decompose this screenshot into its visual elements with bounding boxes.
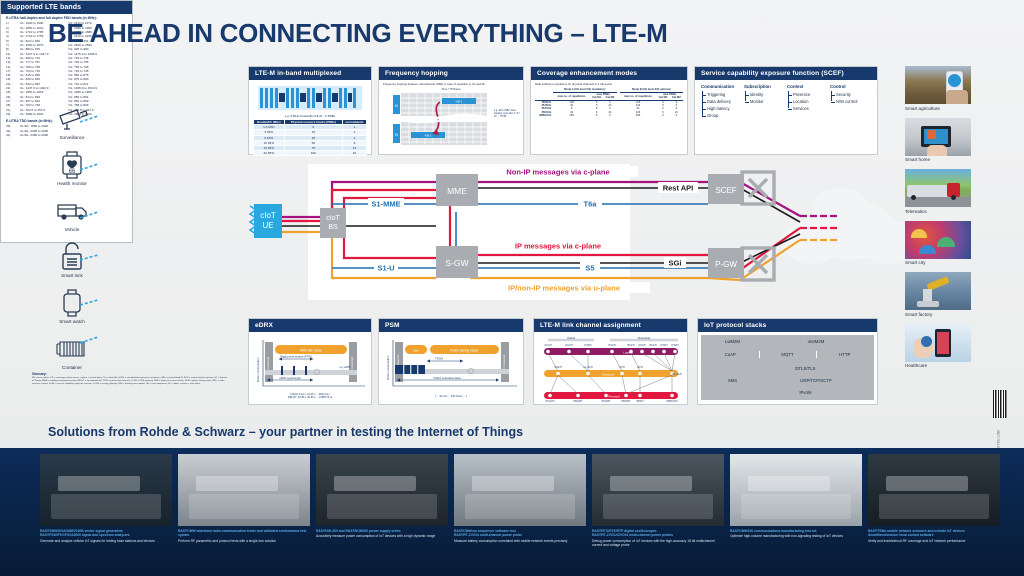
app-label: Smart agriculture <box>905 106 971 111</box>
panel-title: Frequency hopping <box>379 67 523 80</box>
table-header-row: Bandwidth (MHz)Physical resource blocks … <box>254 120 367 125</box>
scef-item-list: TriggeringData deliveryHigh latencyGroup <box>701 91 742 120</box>
solution-item: R&S®CMW100 communications manufacturing … <box>730 454 862 548</box>
protocol-row-3: DTLS/TLS <box>706 366 869 371</box>
cattle-and-smart-device-photo <box>905 66 971 104</box>
network-scanner-and-tablet-photo <box>868 454 1000 526</box>
panel-body: Power consumption RRC connected RRC conn… <box>379 332 523 403</box>
svg-text:Power saving mode: Power saving mode <box>450 348 478 352</box>
svg-text:B: B <box>395 132 398 137</box>
ce-channel: MPDCCH <box>535 114 553 117</box>
flow-label-ip: IP messages via c-plane <box>515 242 601 251</box>
table-header-cell: Physical resource blocks (PRBs) <box>284 120 342 125</box>
scef-group-context: ContextPresenceLocationServices <box>787 84 828 120</box>
band-number: 41) <box>6 133 20 137</box>
svg-text:NB 1: NB 1 <box>456 100 463 104</box>
solution-product-name: R&S®NGL200 and R&S®NGM200 power supply s… <box>316 529 448 533</box>
svg-text:S-GW: S-GW <box>445 258 468 268</box>
protocol-lwm2m: LwM2M <box>706 339 759 344</box>
solution-product-names: R&S®RTO/RTE/RTP digital oscilloscopesR&S… <box>592 529 724 538</box>
protocol-dtls-tls: DTLS/TLS <box>795 366 815 371</box>
panel-body: LwM2M oneM2M CoAP MQTT HTTP DTLS/TLS SMS… <box>698 332 877 403</box>
barcode <box>993 390 1007 418</box>
svg-text:T3324: T3324 <box>435 357 443 361</box>
ce-col-reps: max no. of repetitions <box>553 92 590 100</box>
solutions-grid: R&S®SMW200A/SMBV100B vector signal gener… <box>40 454 1000 548</box>
svg-text:Uplink: Uplink <box>567 336 576 340</box>
scef-item: Data delivery <box>707 98 742 105</box>
svg-text:CCCH: CCCH <box>544 344 551 347</box>
scef-item-list: SecurityN/W control <box>830 91 871 105</box>
app-item-smart-factory: Smart factory <box>905 272 971 317</box>
scef-group-title: Context <box>787 84 828 89</box>
svg-text:Transport: Transport <box>602 373 615 377</box>
edrx-note-2: (NB-IoT: 20.48 s, 40.96 s ... 10485.76 s… <box>253 396 367 399</box>
panel-title: Coverage enhancement modes <box>531 67 687 80</box>
link-channel-figure: Uplink Downlink Logical CCCHDCCHDTCH PCC… <box>536 334 685 402</box>
svg-text:DTCH: DTCH <box>661 344 668 347</box>
signal-generator-and-analyzer-photo <box>40 454 172 526</box>
svg-text:DCCH: DCCH <box>649 344 656 347</box>
solution-product-name: R&S®RT-ZVC02/ZVC04 multi-channel power p… <box>592 533 724 537</box>
scef-item-list: IdentityMonitor <box>744 91 785 105</box>
ce-table: Mode A (CE level 0/1) mandatoryMode B (C… <box>535 88 683 117</box>
glossary-title: Glossary: <box>32 372 228 376</box>
panel-title: LTE-M in-band multiplexed <box>249 67 371 80</box>
scef-item: Triggering <box>707 91 742 98</box>
svg-text:MME: MME <box>447 186 467 196</box>
app-item-smart-home: Smart home <box>905 118 971 163</box>
solution-product-name: R&S®FSW/FSV/FSVA3000 signal and spectrum… <box>40 533 172 537</box>
glossary-text: BS = base station, CE = coverage enhance… <box>32 377 228 386</box>
table-cell: 20 MHz <box>254 151 285 156</box>
svg-text:MPDCCH: MPDCCH <box>667 400 678 402</box>
hopping-side-note: e.g. with 4 NBs: fixed hopping cycle aft… <box>494 110 520 119</box>
node-ciot-bs: cIoT BS <box>320 208 346 238</box>
node-mme: MME <box>436 174 478 206</box>
iface-label-restapi: Rest API <box>663 184 694 193</box>
solution-product-names: R&S®CMW100 communications manufacturing … <box>730 529 862 533</box>
iface-label-s1u: S1-U <box>377 264 394 273</box>
ce-a-m1: 6 <box>590 114 603 117</box>
solution-description: Optimize high-volume manufacturing with … <box>730 534 862 538</box>
svg-text:Paging time window (PTW): Paging time window (PTW) <box>280 355 311 359</box>
protocol-row-2: CoAP MQTT HTTP <box>706 351 869 358</box>
robot-arm-factory-photo <box>905 272 971 310</box>
svg-text:NB 2: NB 2 <box>425 134 432 138</box>
edrx-timing-figure: Power consumption RRC connected RRC conn… <box>253 336 369 392</box>
manufacturing-test-set-photo <box>730 454 862 526</box>
divider <box>759 351 760 358</box>
scef-item: High latency <box>707 105 742 112</box>
solution-description: Measure battery consumption correlated w… <box>454 539 586 543</box>
panel-psm: PSM Power consumption RRC connected RRC … <box>378 318 524 405</box>
psm-range-note: [ ... 30 min ... 310 hours ... ] <box>383 395 519 398</box>
svg-text:B: B <box>395 103 398 108</box>
solution-description: Perform RF parametric and protocol tests… <box>178 539 310 543</box>
solution-product-names: R&S®TSMx mobile network scanners and cel… <box>868 529 1000 538</box>
solution-description: Verify and troubleshoot RF coverage and … <box>868 539 1000 543</box>
svg-text:RRC idle mode: RRC idle mode <box>300 348 322 352</box>
solution-product-name: R&S®RT-ZVC04 multi-channel power probe <box>454 533 586 537</box>
app-label: Smart factory <box>905 312 971 317</box>
app-item-healthcare: Healthcare <box>905 324 971 369</box>
svg-text:cIoT: cIoT <box>260 211 276 220</box>
panel-edrx: eDRX Power consumption RRC connected RRC… <box>248 318 372 405</box>
svg-text:66: 66 <box>69 169 76 175</box>
svg-text:Idle: Idle <box>414 348 419 352</box>
laptop-cmwrun-software-photo <box>454 454 586 526</box>
scef-group-title: Communication <box>701 84 742 89</box>
panel-title: LTE-M link channel assignment <box>534 319 687 332</box>
divider <box>816 351 817 358</box>
svg-text:PUCCH: PUCCH <box>546 400 555 402</box>
scef-item: Monitor <box>750 98 785 105</box>
panel-body: Uplink Downlink Logical CCCHDCCHDTCH PCC… <box>534 332 687 403</box>
radio-communication-tester-photo <box>178 454 310 526</box>
protocol-udp-tcp-sctp: UDP/TCP/SCTP <box>763 378 869 383</box>
protocol-onem2m: oneM2M <box>763 339 869 344</box>
svg-text:PUSCH: PUSCH <box>602 400 611 402</box>
table-row: 20 MHz10016 <box>254 151 367 156</box>
panel-body: CommunicationTriggeringData deliveryHigh… <box>695 80 877 153</box>
solution-item: R&S®NGL200 and R&S®NGM200 power supply s… <box>316 454 448 548</box>
app-label: Healthcare <box>905 363 971 368</box>
svg-text:Downlink: Downlink <box>638 336 651 340</box>
protocol-sms: SMS <box>706 378 759 383</box>
panel-title: eDRX <box>249 319 371 332</box>
ce-row: MPDCCH2566625666 <box>535 114 683 117</box>
svg-text:PCCH: PCCH <box>608 344 615 347</box>
scef-group-title: Control <box>830 84 871 89</box>
solutions-heading: Solutions from Rohde & Schwarz – your pa… <box>48 425 523 439</box>
svg-text:DCCH: DCCH <box>565 344 572 347</box>
protocol-stack-figure: LwM2M oneM2M CoAP MQTT HTTP DTLS/TLS SMS… <box>701 335 874 400</box>
ce-a-m2: 6 <box>603 114 616 117</box>
node-sgw: S-GW <box>436 246 478 278</box>
svg-text:CCCH: CCCH <box>638 344 645 347</box>
panel-body: Frequency hopping between narrowbands (N… <box>379 80 523 153</box>
svg-text:DTCH: DTCH <box>672 344 679 347</box>
scef-group-control: ControlSecurityN/W control <box>830 84 871 120</box>
protocol-row-4: SMS UDP/TCP/SCTP <box>706 378 869 383</box>
scef-group-subscription: SubscriptionIdentityMonitor <box>744 84 785 120</box>
protocol-ipv46: IPv4/6 <box>799 390 811 395</box>
svg-text:BS: BS <box>328 224 338 231</box>
panel-body: Power consumption RRC connected RRC conn… <box>249 332 371 403</box>
svg-text:eDRX cycle length: eDRX cycle length <box>279 376 301 380</box>
panel-title: IoT protocol stacks <box>698 319 877 332</box>
solution-product-name: R&S®CMW100 communications manufacturing … <box>730 529 862 533</box>
scef-item: Group <box>707 112 742 119</box>
device-connection-arrows <box>78 100 106 350</box>
solution-description: Accurately measure power consumption of … <box>316 534 448 538</box>
tablet-home-control-photo <box>905 118 971 156</box>
city-crowd-umbrellas-photo <box>905 221 971 259</box>
ce-a-reps: 256 <box>553 114 590 117</box>
svg-text:P-GW: P-GW <box>715 260 737 269</box>
solution-description: Debug power consumption of IoT devices w… <box>592 539 724 548</box>
iface-label-s5: S5 <box>585 264 594 273</box>
svg-text:Power consumption: Power consumption <box>386 355 390 380</box>
panel-body: Multi-subframe repetitions for physical … <box>531 80 687 153</box>
tanker-truck-on-road-photo <box>905 169 971 207</box>
iface-label-sgi: SGi <box>669 259 682 268</box>
panel-title: Supported LTE bands <box>1 1 132 14</box>
svg-text:SCEF: SCEF <box>715 186 736 195</box>
protocol-coap: CoAP <box>706 352 755 357</box>
svg-text:PBCH: PBCH <box>637 400 644 402</box>
hopping-grid-figure: B B NB 1 NB 2 <box>385 92 517 147</box>
panel-scef: Service capability exposure function (SC… <box>694 66 878 155</box>
panel-title: Service capability exposure function (SC… <box>695 67 877 80</box>
ce-b-m1: 6 <box>656 114 669 117</box>
oscilloscope-with-probe-photo <box>592 454 724 526</box>
solution-item: R&S®CMWrun sequencer software toolR&S®RT… <box>454 454 586 548</box>
solution-item: R&S®CMW wideband radio communication tes… <box>178 454 310 548</box>
svg-text:DL-SCH: DL-SCH <box>672 373 682 376</box>
solution-item: R&S®SMW200A/SMBV100B vector signal gener… <box>40 454 172 548</box>
table-cell: 16 <box>342 151 366 156</box>
inband-table: Bandwidth (MHz)Physical resource blocks … <box>253 119 367 156</box>
hopping-caption: Frequency hopping between narrowbands (N… <box>383 83 519 86</box>
scef-item: Presence <box>793 91 828 98</box>
scef-group-title: Subscription <box>744 84 785 89</box>
svg-text:Power consumption: Power consumption <box>256 357 260 382</box>
internet-cloud-icon <box>782 188 918 264</box>
panel-title: PSM <box>379 319 523 332</box>
solution-description: Generate and analyze cellular IoT signal… <box>40 539 172 543</box>
table-header-cell: narrowbands <box>342 120 366 125</box>
svg-text:PRACH: PRACH <box>574 400 583 402</box>
scef-item: N/W control <box>836 98 871 105</box>
svg-text:Physical: Physical <box>608 395 620 399</box>
ce-b-m2: 6 <box>670 114 683 117</box>
app-label: Smart city <box>905 260 971 265</box>
app-item-smart-agriculture: Smart agriculture <box>905 66 971 111</box>
svg-text:PDSCH: PDSCH <box>622 400 631 402</box>
glossary: Glossary: BS = base station, CE = covera… <box>32 372 228 406</box>
band-number: 39) <box>6 112 20 116</box>
panel-coverage-enhancement: Coverage enhancement modes Multi-subfram… <box>530 66 688 155</box>
hopping-axis-label: Time / TTI/frame <box>383 88 519 91</box>
scef-group-communication: CommunicationTriggeringData deliveryHigh… <box>701 84 742 120</box>
scef-item: Services <box>793 105 828 112</box>
page-title: BE AHEAD IN CONNECTING EVERYTHING – LTE-… <box>48 18 667 49</box>
svg-text:BCCH: BCCH <box>627 344 634 347</box>
scef-item: Identity <box>750 91 785 98</box>
inband-spectrum-figure <box>254 84 366 112</box>
app-label: Telematics <box>905 209 971 214</box>
panel-frequency-hopping: Frequency hopping Frequency hopping betw… <box>378 66 524 155</box>
scef-item: Location <box>793 98 828 105</box>
network-architecture-diagram: cIoT UE cIoT BS MME S-GW SCEF P-GW <box>240 160 940 310</box>
app-item-telematics: Telematics <box>905 169 971 214</box>
solution-item: R&S®RTO/RTE/RTP digital oscilloscopesR&S… <box>592 454 724 548</box>
node-ciot-ue: cIoT UE <box>250 204 282 238</box>
solution-product-names: R&S®NGL200 and R&S®NGM200 power supply s… <box>316 529 448 533</box>
scef-item-list: PresenceLocationServices <box>787 91 828 112</box>
inband-caption: e.g. 5 MHz bandwidth LTE-M – 6 PRBs <box>253 114 367 118</box>
solution-product-names: R&S®SMW200A/SMBV100B vector signal gener… <box>40 529 172 538</box>
solutions-band: Solutions from Rohde & Schwarz – your pa… <box>0 448 1024 576</box>
panel-body: e.g. 5 MHz bandwidth LTE-M – 6 PRBs Band… <box>249 80 371 153</box>
solution-product-names: R&S®CMWrun sequencer software toolR&S®RT… <box>454 529 586 538</box>
iface-label-t6a: T6a <box>584 200 598 209</box>
application-image-column: Smart agriculture Smart home Telematics <box>905 66 971 375</box>
solution-item: R&S®TSMx mobile network scanners and cel… <box>868 454 1000 548</box>
hands-holding-phone-health-app-photo <box>905 324 971 362</box>
flow-label-nonip: Non-IP messages via c-plane <box>506 168 609 177</box>
power-supply-series-photo <box>316 454 448 526</box>
device-label: Container <box>46 365 98 370</box>
panel-iot-protocol-stacks: IoT protocol stacks LwM2M oneM2M CoAP MQ… <box>697 318 878 405</box>
app-item-smart-city: Smart city <box>905 221 971 266</box>
scef-item: Security <box>836 91 871 98</box>
protocol-mqtt: MQTT <box>763 352 812 357</box>
ce-caption: Multi-subframe repetitions for physical … <box>535 83 683 86</box>
panel-link-channel-assignment: LTE-M link channel assignment Uplink Dow… <box>533 318 688 405</box>
iface-label-s1mme: S1-MME <box>371 200 400 209</box>
scef-groups: CommunicationTriggeringData deliveryHigh… <box>695 80 877 120</box>
app-label: Smart home <box>905 157 971 162</box>
svg-text:DTCH: DTCH <box>585 344 592 347</box>
solution-product-names: R&S®CMW wideband radio communication tes… <box>178 529 310 538</box>
svg-text:UE: UE <box>262 221 273 230</box>
node-scef: SCEF <box>708 174 744 204</box>
protocol-row-5: IPv4/6 <box>706 390 869 395</box>
ce-col-reps: max no. of repetitions <box>620 92 657 100</box>
flow-label-uplane: IP/non-IP messages via u-plane <box>508 284 620 293</box>
poster-root: BE AHEAD IN CONNECTING EVERYTHING – LTE-… <box>0 0 1024 576</box>
protocol-http: HTTP <box>820 352 869 357</box>
solution-product-name: SmartBenchmarker local control software <box>868 533 1000 537</box>
table-header-cell: Bandwidth (MHz) <box>254 120 285 125</box>
svg-text:e.g. eDRX: e.g. eDRX <box>339 366 350 369</box>
psm-timing-figure: Power consumption RRC connected RRC conn… <box>383 336 521 394</box>
svg-text:cIoT: cIoT <box>326 215 340 222</box>
table-cell: 100 <box>284 151 342 156</box>
ce-b-reps: 256 <box>620 114 657 117</box>
node-pgw: P-GW <box>708 248 744 278</box>
protocol-row-1: LwM2M oneM2M <box>706 339 869 344</box>
panel-inband-multiplexed: LTE-M in-band multiplexed <box>248 66 372 155</box>
svg-text:T3412 extended value: T3412 extended value <box>433 376 461 380</box>
solution-product-name: R&S®CMW wideband radio communication tes… <box>178 529 310 538</box>
